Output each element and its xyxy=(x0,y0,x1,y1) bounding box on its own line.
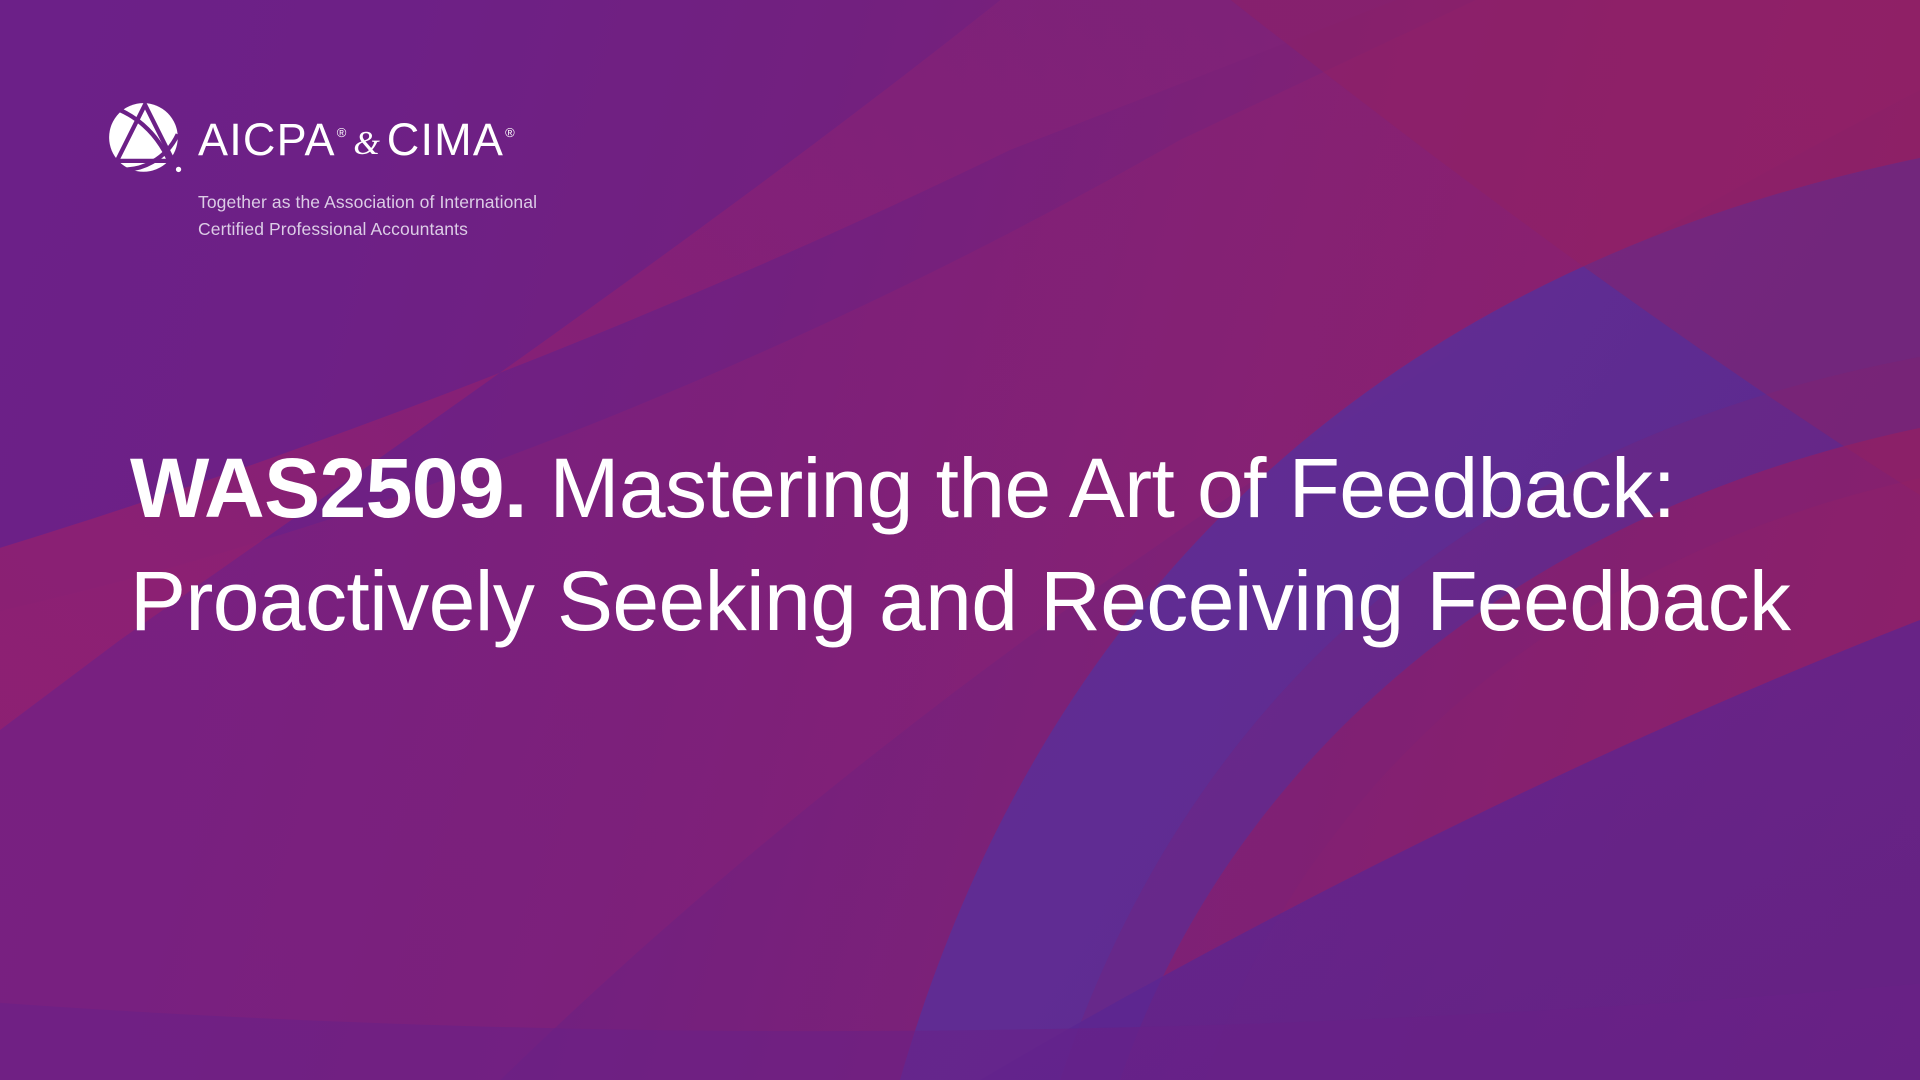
wordmark-cima: CIMA xyxy=(387,117,504,162)
aicpa-cima-logo: AICPA® & CIMA® Together as the Associati… xyxy=(106,100,626,242)
wordmark-ampersand: & xyxy=(346,127,386,161)
logo-row: AICPA® & CIMA® xyxy=(106,100,626,178)
logo-tagline: Together as the Association of Internati… xyxy=(198,189,626,242)
title-slide: AICPA® & CIMA® Together as the Associati… xyxy=(0,0,1920,1080)
wordmark-aicpa-registered-icon: ® xyxy=(337,126,347,139)
logo-tagline-line-2: Certified Professional Accountants xyxy=(198,216,626,243)
slide-title: WAS2509. Mastering the Art of Feedback: … xyxy=(130,432,1810,658)
logo-wordmark: AICPA® & CIMA® xyxy=(198,117,515,162)
title-block: WAS2509. Mastering the Art of Feedback: … xyxy=(130,432,1810,658)
aicpa-cima-globe-mark-icon xyxy=(106,100,184,178)
session-code: WAS2509. xyxy=(130,441,527,535)
wordmark-aicpa: AICPA xyxy=(198,117,336,162)
wordmark-cima-registered-icon: ® xyxy=(505,126,515,139)
logo-tagline-line-1: Together as the Association of Internati… xyxy=(198,189,626,216)
